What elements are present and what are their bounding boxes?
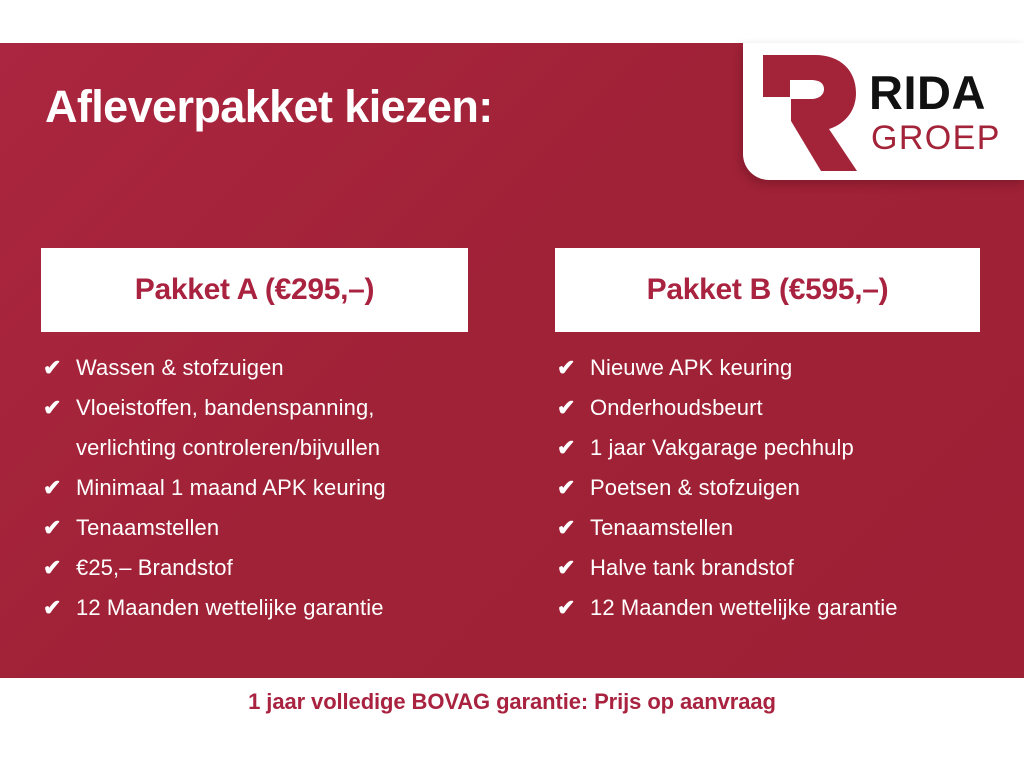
list-item: ✔ Tenaamstellen: [41, 508, 468, 548]
list-item-label: Poetsen & stofzuigen: [590, 475, 800, 500]
pakket-b-title: Pakket B (€595,–): [647, 273, 889, 307]
check-icon: ✔: [43, 468, 67, 508]
list-item: ✔ Nieuwe APK keuring: [555, 348, 980, 388]
logo-panel: RIDA GROEP: [743, 43, 1024, 180]
pakket-a-title: Pakket A (€295,–): [135, 273, 375, 307]
package-column-b: Pakket B (€595,–) ✔ Nieuwe APK keuring ✔…: [555, 248, 980, 628]
list-item-label: Wassen & stofzuigen: [76, 355, 284, 380]
list-item: ✔ Poetsen & stofzuigen: [555, 468, 980, 508]
list-item: ✔ Vloeistoffen, bandenspanning, verlicht…: [41, 388, 468, 468]
list-item-label: Nieuwe APK keuring: [590, 355, 792, 380]
list-item-label: 1 jaar Vakgarage pechhulp: [590, 435, 854, 460]
pakket-b-header-box[interactable]: Pakket B (€595,–): [555, 248, 980, 332]
list-item: ✔ 12 Maanden wettelijke garantie: [555, 588, 980, 628]
list-item: ✔ €25,– Brandstof: [41, 548, 468, 588]
list-item-label: €25,– Brandstof: [76, 555, 233, 580]
check-icon: ✔: [43, 588, 67, 628]
check-icon: ✔: [557, 468, 581, 508]
check-icon: ✔: [43, 388, 67, 428]
footer-guarantee-text: 1 jaar volledige BOVAG garantie: Prijs o…: [0, 689, 1024, 715]
list-item: ✔ 1 jaar Vakgarage pechhulp: [555, 428, 980, 468]
list-item: ✔ Wassen & stofzuigen: [41, 348, 468, 388]
list-item-label: Tenaamstellen: [76, 515, 219, 540]
logo-wordmark: RIDA GROEP: [869, 69, 1001, 155]
package-column-a: Pakket A (€295,–) ✔ Wassen & stofzuigen …: [41, 248, 468, 628]
list-item: ✔ Onderhoudsbeurt: [555, 388, 980, 428]
check-icon: ✔: [43, 548, 67, 588]
list-item-label: Minimaal 1 maand APK keuring: [76, 475, 386, 500]
list-item-label: 12 Maanden wettelijke garantie: [590, 595, 898, 620]
list-item: ✔ 12 Maanden wettelijke garantie: [41, 588, 468, 628]
list-item: ✔ Halve tank brandstof: [555, 548, 980, 588]
list-item: ✔ Tenaamstellen: [555, 508, 980, 548]
list-item-label: Tenaamstellen: [590, 515, 733, 540]
logo-primary-word: RIDA: [869, 69, 1001, 116]
list-item-label: Onderhoudsbeurt: [590, 395, 763, 420]
rida-r-monogram-icon: [757, 51, 861, 175]
check-icon: ✔: [557, 548, 581, 588]
check-icon: ✔: [43, 508, 67, 548]
page-title: Afleverpakket kiezen:: [45, 78, 705, 136]
list-item-label: 12 Maanden wettelijke garantie: [76, 595, 384, 620]
check-icon: ✔: [557, 508, 581, 548]
list-item-label: Vloeistoffen, bandenspanning, verlichtin…: [76, 395, 380, 460]
check-icon: ✔: [557, 348, 581, 388]
check-icon: ✔: [557, 388, 581, 428]
check-icon: ✔: [557, 588, 581, 628]
check-icon: ✔: [557, 428, 581, 468]
list-item-label: Halve tank brandstof: [590, 555, 794, 580]
check-icon: ✔: [43, 348, 67, 388]
logo-secondary-word: GROEP: [871, 121, 1001, 155]
pakket-a-feature-list: ✔ Wassen & stofzuigen ✔ Vloeistoffen, ba…: [41, 348, 468, 628]
pakket-a-header-box[interactable]: Pakket A (€295,–): [41, 248, 468, 332]
slide-root: Afleverpakket kiezen: RIDA GROEP Pakket …: [0, 0, 1024, 768]
list-item: ✔ Minimaal 1 maand APK keuring: [41, 468, 468, 508]
footer-bar: 1 jaar volledige BOVAG garantie: Prijs o…: [0, 678, 1024, 768]
pakket-b-feature-list: ✔ Nieuwe APK keuring ✔ Onderhoudsbeurt ✔…: [555, 348, 980, 628]
